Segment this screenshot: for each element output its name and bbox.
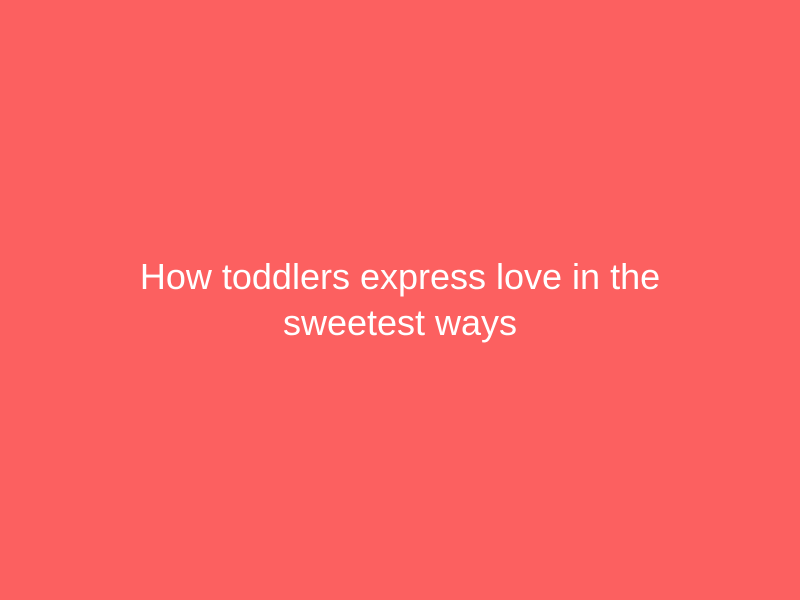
hero-banner: How toddlers express love in the sweetes… [0, 0, 800, 600]
hero-text-block: How toddlers express love in the sweetes… [80, 254, 720, 346]
page-title: How toddlers express love in the sweetes… [80, 254, 720, 346]
